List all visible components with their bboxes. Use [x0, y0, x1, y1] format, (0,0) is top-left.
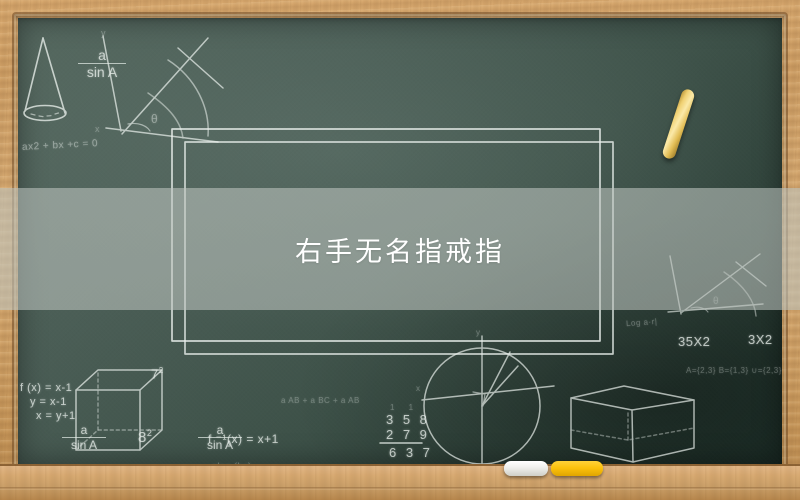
screenshot-root: a sin A ax2 + bx +c = 0 y x θ θ f (x) = … — [0, 0, 800, 500]
caption-overlay-band: 右手无名指戒指 — [0, 188, 800, 310]
chalk-ledge — [0, 464, 800, 500]
chalk-stick-white[interactable] — [504, 461, 548, 476]
caption-text: 右手无名指戒指 — [295, 230, 505, 269]
chalk-ledge-lip — [0, 487, 800, 490]
chalk-stick-yellow[interactable] — [551, 461, 603, 476]
